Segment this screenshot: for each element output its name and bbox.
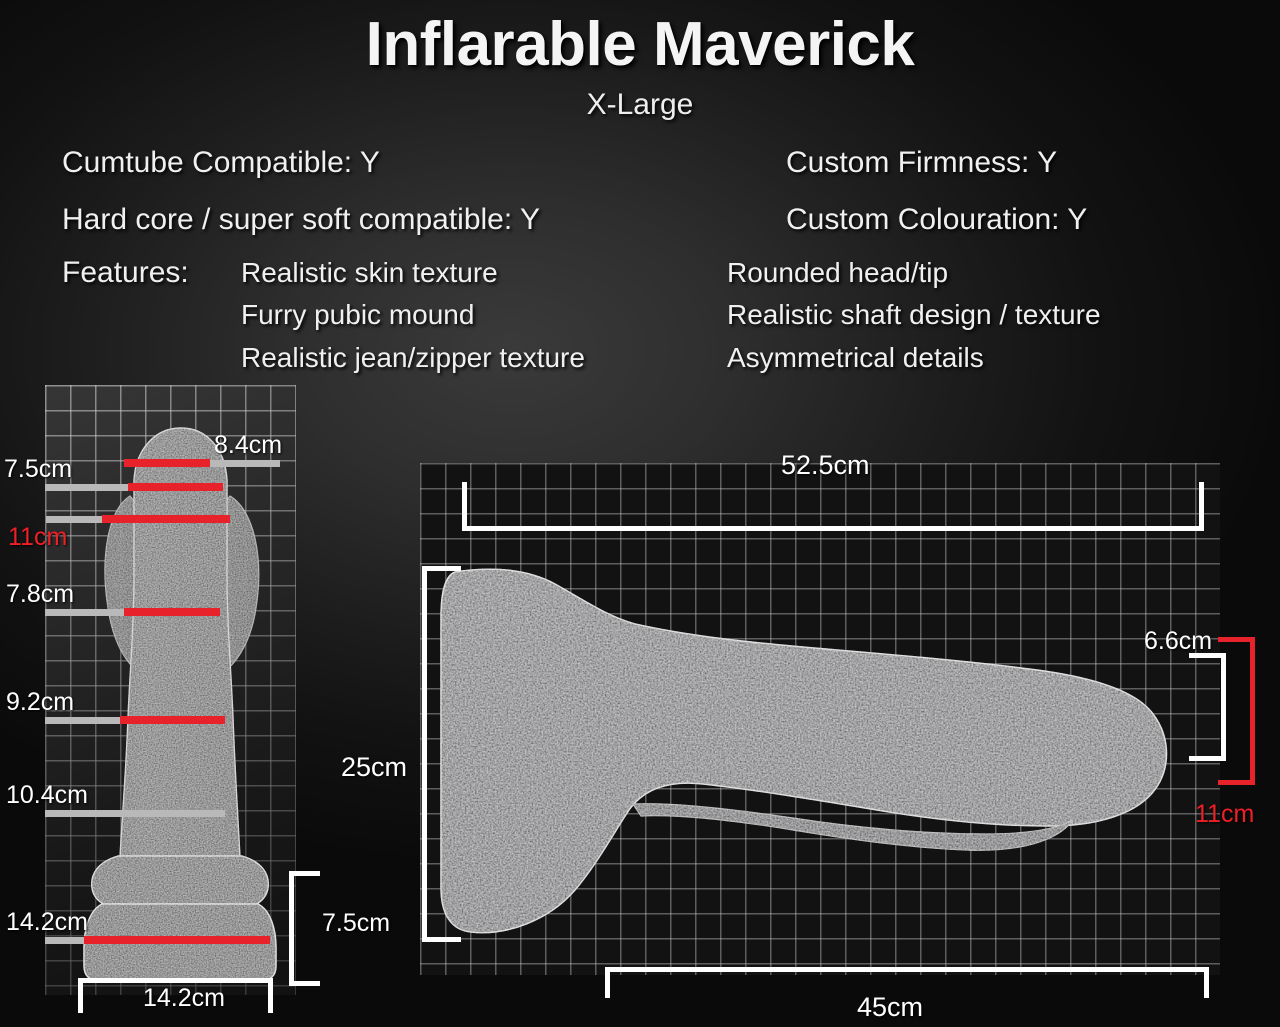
feature-item: Realistic jean/zipper texture: [241, 342, 585, 374]
measure-label-total-length: 52.5cm: [781, 450, 870, 481]
measure-label-shaft-lower: 10.4cm: [6, 781, 88, 810]
bracket-total-length: [462, 482, 1204, 531]
measure-label-base-height-side: 25cm: [341, 752, 407, 783]
product-spec-sheet: Inflarable Maverick X-Large Cumtube Comp…: [0, 0, 1280, 1027]
measure-label-tip-height: 6.6cm: [1144, 627, 1212, 656]
measure-label-tip-width: 8.4cm: [214, 431, 282, 460]
measure-line-head-lower: [102, 515, 230, 523]
measure-label-base-width: 14.2cm: [143, 984, 225, 1013]
side-profile-silhouette: [437, 558, 1212, 958]
spec-custom-colouration: Custom Colouration: Y: [786, 203, 1087, 237]
feature-item: Furry pubic mound: [241, 299, 474, 331]
measure-label-tip-span: 11cm: [1195, 800, 1254, 829]
feature-item: Asymmetrical details: [727, 342, 984, 374]
spec-cumtube-compatible: Cumtube Compatible: Y: [62, 146, 380, 180]
measure-label-base-height: 7.5cm: [322, 909, 390, 938]
measure-line-base-girth: [84, 936, 270, 944]
leader-line-shaft-lower: [45, 810, 225, 817]
measure-label-shaft-upper: 7.8cm: [6, 580, 74, 609]
bracket-tip-span: [1218, 637, 1255, 785]
feature-item: Realistic shaft design / texture: [727, 299, 1101, 331]
leader-line-shaft-mid: [45, 717, 128, 724]
bracket-base-height-side: [422, 566, 461, 942]
measure-label-head-lower: 11cm: [8, 523, 67, 552]
spec-hardcore-softcore: Hard core / super soft compatible: Y: [62, 203, 540, 237]
page-title: Inflarable Maverick: [0, 14, 1280, 76]
feature-item: Rounded head/tip: [727, 257, 948, 289]
feature-item: Realistic skin texture: [241, 257, 498, 289]
measure-line-head-upper: [128, 483, 223, 491]
measure-label-base-girth: 14.2cm: [6, 908, 88, 937]
features-label: Features:: [62, 256, 189, 290]
measure-line-shaft-upper: [124, 608, 220, 616]
measure-label-head-upper: 7.5cm: [4, 455, 72, 484]
measure-line-shaft-mid: [120, 716, 225, 724]
measure-line-tip-width: [124, 459, 210, 467]
front-elevation-silhouette: [78, 418, 288, 988]
spec-custom-firmness: Custom Firmness: Y: [786, 146, 1057, 180]
page-subtitle: X-Large: [0, 88, 1280, 122]
measure-label-insertable-length: 45cm: [857, 992, 923, 1023]
bracket-base-height: [289, 871, 320, 986]
measure-label-shaft-mid: 9.2cm: [6, 688, 74, 717]
